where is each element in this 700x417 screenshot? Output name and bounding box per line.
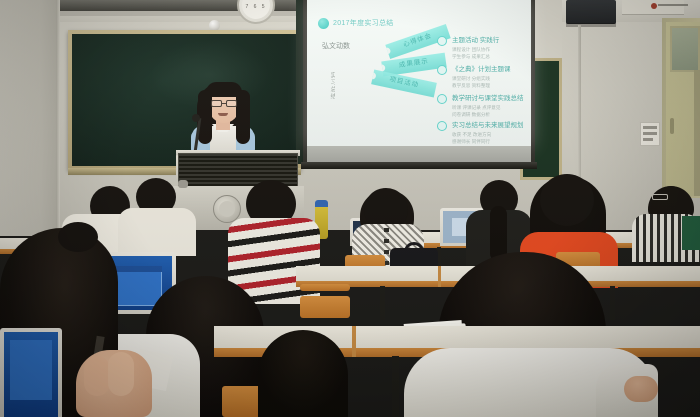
glasses-icon [211, 100, 222, 107]
bullet-heading: 主题活动 实践行 [452, 37, 499, 45]
microphone-icon [192, 114, 200, 122]
wall-sign-line [643, 132, 657, 135]
slide-bullet-4: 实习总结与未来展望规划 收获 不足 改进方向 感谢师长 同伴同行 [437, 121, 532, 147]
chair-back-rail[interactable] [300, 284, 350, 291]
projection-screen-lower-band [307, 146, 531, 162]
pillar-edge [56, 0, 60, 236]
bullet-dot-icon [437, 65, 447, 75]
wall-clock-numerals: 7 6 5 [244, 2, 268, 12]
wall-speaker-icon [566, 0, 616, 24]
bullet-subline: 学生参与 成果汇总 [452, 54, 490, 60]
bullet-subline: 收获 不足 改进方向 [452, 132, 491, 138]
presenter-mouth [218, 113, 228, 116]
glasses-icon [652, 194, 668, 200]
projection-screen-bottom-bar [301, 162, 537, 169]
wall-speaker-shadow [566, 23, 616, 27]
glasses-icon [226, 100, 237, 107]
desk-leg [610, 286, 615, 320]
left-wall-pillar [0, 0, 58, 236]
foreground-finger [84, 356, 110, 396]
student-body [118, 208, 196, 256]
chair-back-green [682, 216, 700, 250]
bullet-subline: 课堂研讨 分组实践 [452, 76, 490, 82]
bullet-subline: 教学反思 资料整理 [452, 83, 490, 89]
glasses-bridge [222, 103, 226, 104]
chair-back[interactable] [300, 296, 350, 318]
water-bottle-cap[interactable] [315, 200, 328, 207]
desk-leg [380, 286, 385, 320]
bullet-dot-icon [437, 121, 447, 131]
student-head [540, 174, 594, 226]
slide-bullet-1: 主题活动 实践行 课程设计 团队协作 学生参与 成果汇总 [437, 36, 532, 62]
bullet-subline: 课程设计 团队协作 [452, 47, 490, 53]
indicator-light-icon [651, 3, 657, 9]
slide-bullet-3: 教学研讨与课堂实践总结 听课 评课记录 点评意见 问卷调研 数据分析 [437, 94, 532, 120]
bullet-dot-icon [437, 36, 447, 46]
foreground-finger [108, 352, 134, 396]
presenter-hair-left [198, 90, 212, 144]
door-window [670, 26, 700, 72]
wall-pipe [578, 25, 581, 190]
classroom-scene: 7 6 5 2017年度实习总结 弘文动数 实习总结 心得体会 成果展示 项目活… [0, 0, 700, 417]
conduit-wire [658, 4, 688, 6]
lectern-item [178, 180, 188, 188]
door-handle[interactable] [670, 118, 674, 134]
desk-seam [352, 326, 356, 357]
desk-leg [392, 356, 399, 417]
bullet-heading: 实习总结与未来展望规划 [452, 122, 524, 130]
school-emblem-inner [219, 201, 235, 217]
slide-bullet-2: 《之典》计划主题课 课堂研讨 分组实践 教学反思 资料整理 [437, 65, 532, 91]
desk-seam [438, 266, 441, 287]
wall-sign-line [643, 138, 653, 141]
student-foreground-mid-hair [258, 330, 348, 417]
bullet-subline: 感谢师长 同伴同行 [452, 139, 490, 145]
presenter-hair-right [236, 90, 250, 144]
bullet-subline: 听课 评课记录 点评意见 [452, 105, 501, 111]
door-side-panel [694, 70, 700, 196]
laptop-screen-window [10, 340, 52, 400]
student-foreground-right-hand [624, 376, 658, 402]
bullet-heading: 《之典》计划主题课 [452, 66, 511, 74]
slide-subtitle: 弘文动数 [322, 42, 382, 52]
bullet-dot-icon [437, 94, 447, 104]
slide-vertical-text: 实习总结 [325, 72, 335, 116]
wall-sign-line [643, 126, 657, 129]
bullet-subline: 问卷调研 数据分析 [452, 112, 490, 118]
slide-title-bullet-icon [318, 18, 329, 29]
student-foreground-left-bun [58, 222, 98, 252]
bullet-heading: 教学研讨与课堂实践总结 [452, 95, 524, 103]
